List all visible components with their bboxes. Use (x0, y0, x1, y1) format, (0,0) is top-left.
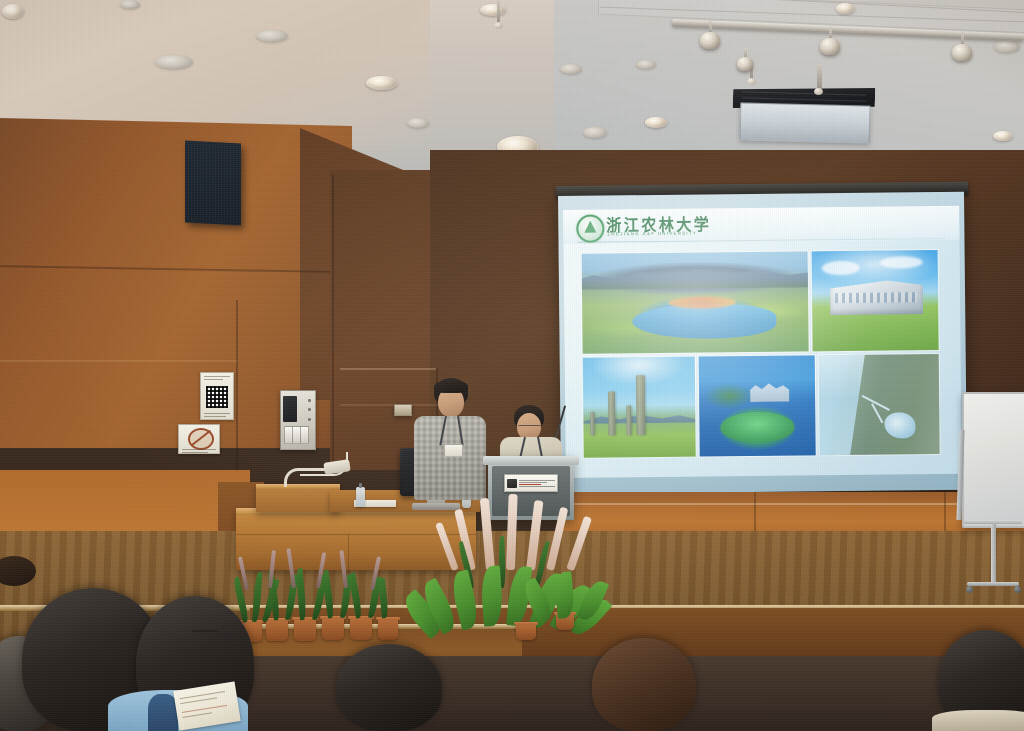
ceiling-downlight (2, 4, 24, 19)
wall-speaker (185, 141, 241, 226)
audience-glasses (192, 630, 218, 636)
conference-hall-photo: 浙江农林大学 ZHEJIANG A&F UNIVERSITY (0, 0, 1024, 731)
ceiling-downlight (560, 64, 582, 74)
ceiling-downlight (836, 3, 855, 14)
placard-text-lines (519, 480, 555, 487)
panel-line (560, 503, 1024, 505)
ceiling-downlight (645, 117, 667, 128)
flower-pot (266, 618, 288, 641)
audience-head-4 (592, 638, 696, 731)
ceiling-downlight (256, 30, 288, 42)
air-diffuser (740, 102, 871, 143)
glasses (518, 425, 541, 430)
presenter-standing (412, 378, 486, 510)
flower-pot (350, 616, 372, 640)
projector-hanger (817, 64, 822, 90)
flower-pot (378, 617, 398, 640)
projection-screen: 浙江农林大学 ZHEJIANG A&F UNIVERSITY (558, 192, 967, 494)
water-bottle (356, 487, 365, 507)
desk-upper-shelf (256, 484, 340, 512)
ceiling-downlight (155, 55, 193, 69)
name-badge (444, 444, 463, 457)
slide-photo-stone-pillars (583, 357, 696, 458)
audience-head-3 (336, 644, 442, 731)
gooseneck-lamp (284, 458, 354, 486)
ceiling-downlight (120, 0, 140, 9)
flower-pot (322, 616, 344, 640)
wall-seam (332, 175, 334, 475)
ceiling-downlight (583, 127, 607, 138)
ceiling-downlight (993, 131, 1013, 141)
ceiling-downlight (480, 4, 506, 16)
audience-shoulder (932, 710, 1024, 731)
slide-photo-garden-island (699, 355, 816, 456)
no-food-drink-sign (178, 424, 220, 454)
av-control-panel[interactable] (280, 390, 316, 450)
slide-photo-aerial-map (819, 354, 940, 455)
qr-code-poster (200, 372, 234, 420)
ceiling-downlight (994, 40, 1020, 53)
ceiling-downlight (636, 60, 656, 69)
university-emblem-icon (576, 215, 604, 243)
flower-pot (516, 622, 536, 640)
flower-pot (294, 617, 316, 641)
presenter-fringe (434, 380, 468, 393)
placard-emblem-icon (507, 479, 517, 488)
wall-seam (0, 360, 238, 362)
wall-door-seam (340, 368, 436, 370)
wall-sign-small (394, 404, 412, 416)
presenter-shirt (414, 416, 486, 500)
presentation-slide: 浙江农林大学 ZHEJIANG A&F UNIVERSITY (563, 206, 962, 478)
ceiling-downlight (407, 118, 429, 128)
podium-placard (504, 474, 558, 492)
mobile-whiteboard[interactable] (962, 392, 1024, 592)
ceiling-downlight (366, 76, 398, 90)
slide-photo-campus-lake (582, 251, 809, 353)
ceiling-hook (497, 0, 500, 24)
audience-strap (148, 694, 178, 731)
slide-photo-modern-building (812, 250, 939, 351)
university-name-en: ZHEJIANG A&F UNIVERSITY (607, 231, 697, 237)
